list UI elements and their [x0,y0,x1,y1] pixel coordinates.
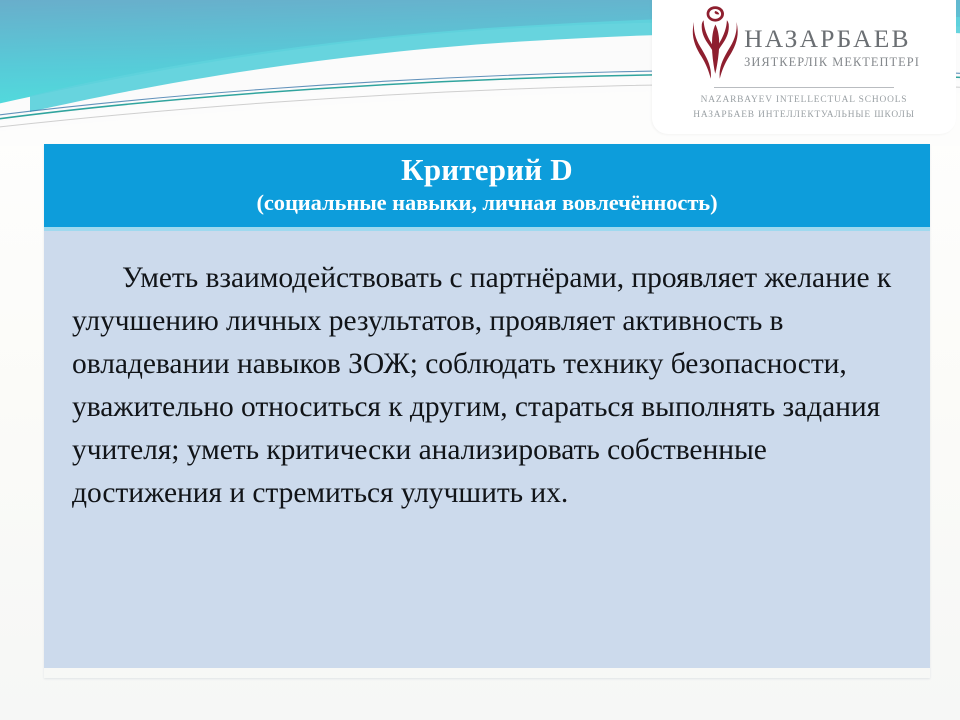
content-card: Критерий D (социальные навыки, личная во… [44,144,930,678]
logo-panel: НАЗАРБАЕВ ЗИЯТКЕРЛІК МЕКТЕПТЕРІ NAZARBAY… [652,0,956,134]
logo-divider [714,87,894,88]
logo-footer-en: NAZARBAYEV INTELLECTUAL SCHOOLS [701,93,908,108]
slide: НАЗАРБАЕВ ЗИЯТКЕРЛІК МЕКТЕПТЕРІ NAZARBAY… [0,0,960,720]
logo-name: НАЗАРБАЕВ [744,26,911,52]
logo-footer-ru: НАЗАРБАЕВ ИНТЕЛЛЕКТУАЛЬНЫЕ ШКОЛЫ [693,108,915,123]
card-body-text: Уметь взаимодействовать с партнёрами, пр… [72,257,900,515]
card-body: Уметь взаимодействовать с партнёрами, пр… [44,231,930,668]
card-title: Критерий D [58,153,916,188]
nazarbayev-figure-icon [688,2,742,80]
logo-subtitle-kz: ЗИЯТКЕРЛІК МЕКТЕПТЕРІ [744,56,920,68]
card-title-bar: Критерий D (социальные навыки, личная во… [44,144,930,231]
card-subtitle: (социальные навыки, личная вовлечённость… [58,190,916,217]
